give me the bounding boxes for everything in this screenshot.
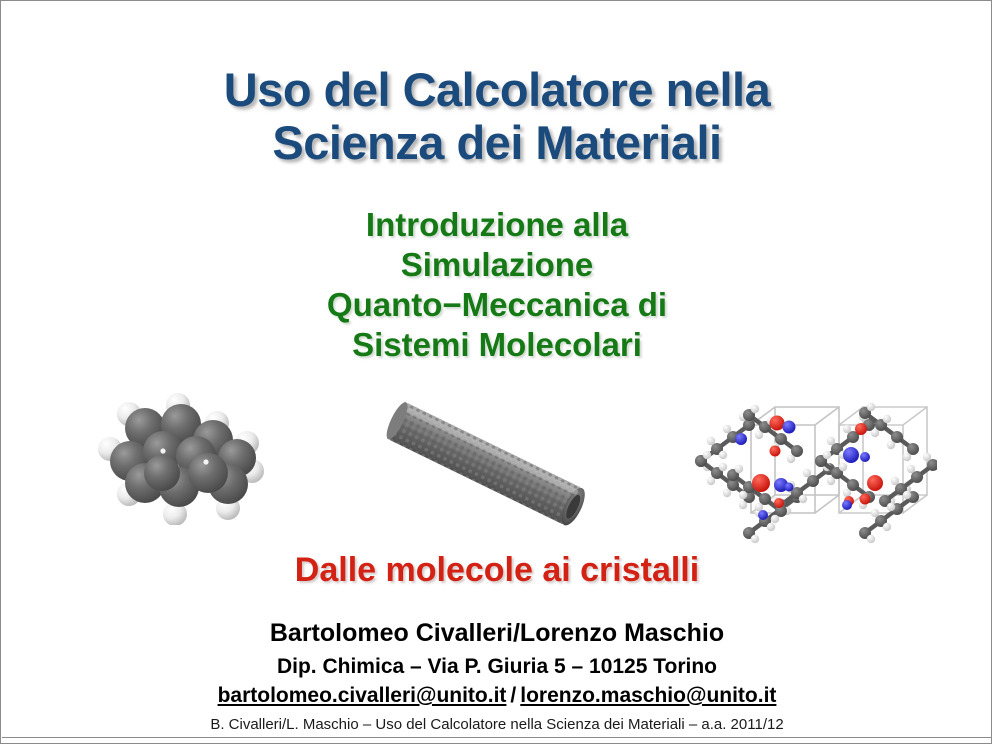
- ring-center-1: [160, 448, 165, 453]
- footer-text: B. Civalleri/L. Maschio – Uso del Calcol…: [1, 715, 992, 735]
- subtitle-line-4: Sistemi Molecolari: [1, 325, 992, 365]
- subtitle-line-1: Introduzione alla: [1, 205, 992, 245]
- title-line-2: Scienza dei Materiali: [1, 116, 992, 169]
- carbon-atoms: [110, 404, 256, 507]
- molecule-chains-right: [815, 403, 937, 543]
- ring-center-2: [203, 459, 208, 464]
- subtitle: Introduzione alla Simulazione Quanto−Mec…: [1, 205, 992, 365]
- email-separator: /: [506, 684, 520, 707]
- email-link-civalleri[interactable]: bartolomeo.civalleri@unito.it: [218, 684, 507, 707]
- anthracene-molecule-image: [89, 383, 285, 525]
- subtitle-line-3: Quanto−Meccanica di: [1, 285, 992, 325]
- tagline: Dalle molecole ai cristalli: [1, 550, 992, 590]
- address-line: Dip. Chimica – Via P. Giuria 5 – 10125 T…: [1, 654, 992, 680]
- authors-line: Bartolomeo Civalleri/Lorenzo Maschio: [1, 618, 992, 648]
- footer-divider: [2, 737, 992, 738]
- molecular-crystal-image: [689, 383, 937, 559]
- slide-root: Uso del Calcolatore nella Scienza dei Ma…: [0, 0, 992, 744]
- emails-line: bartolomeo.civalleri@unito.it/lorenzo.ma…: [1, 683, 992, 709]
- subtitle-line-2: Simulazione: [1, 245, 992, 285]
- title-line-1: Uso del Calcolatore nella: [1, 63, 992, 116]
- email-link-maschio[interactable]: lorenzo.maschio@unito.it: [520, 684, 776, 707]
- nanotube-body: [383, 400, 590, 529]
- carbon-nanotube-image: [361, 379, 617, 551]
- page-title: Uso del Calcolatore nella Scienza dei Ma…: [1, 63, 992, 169]
